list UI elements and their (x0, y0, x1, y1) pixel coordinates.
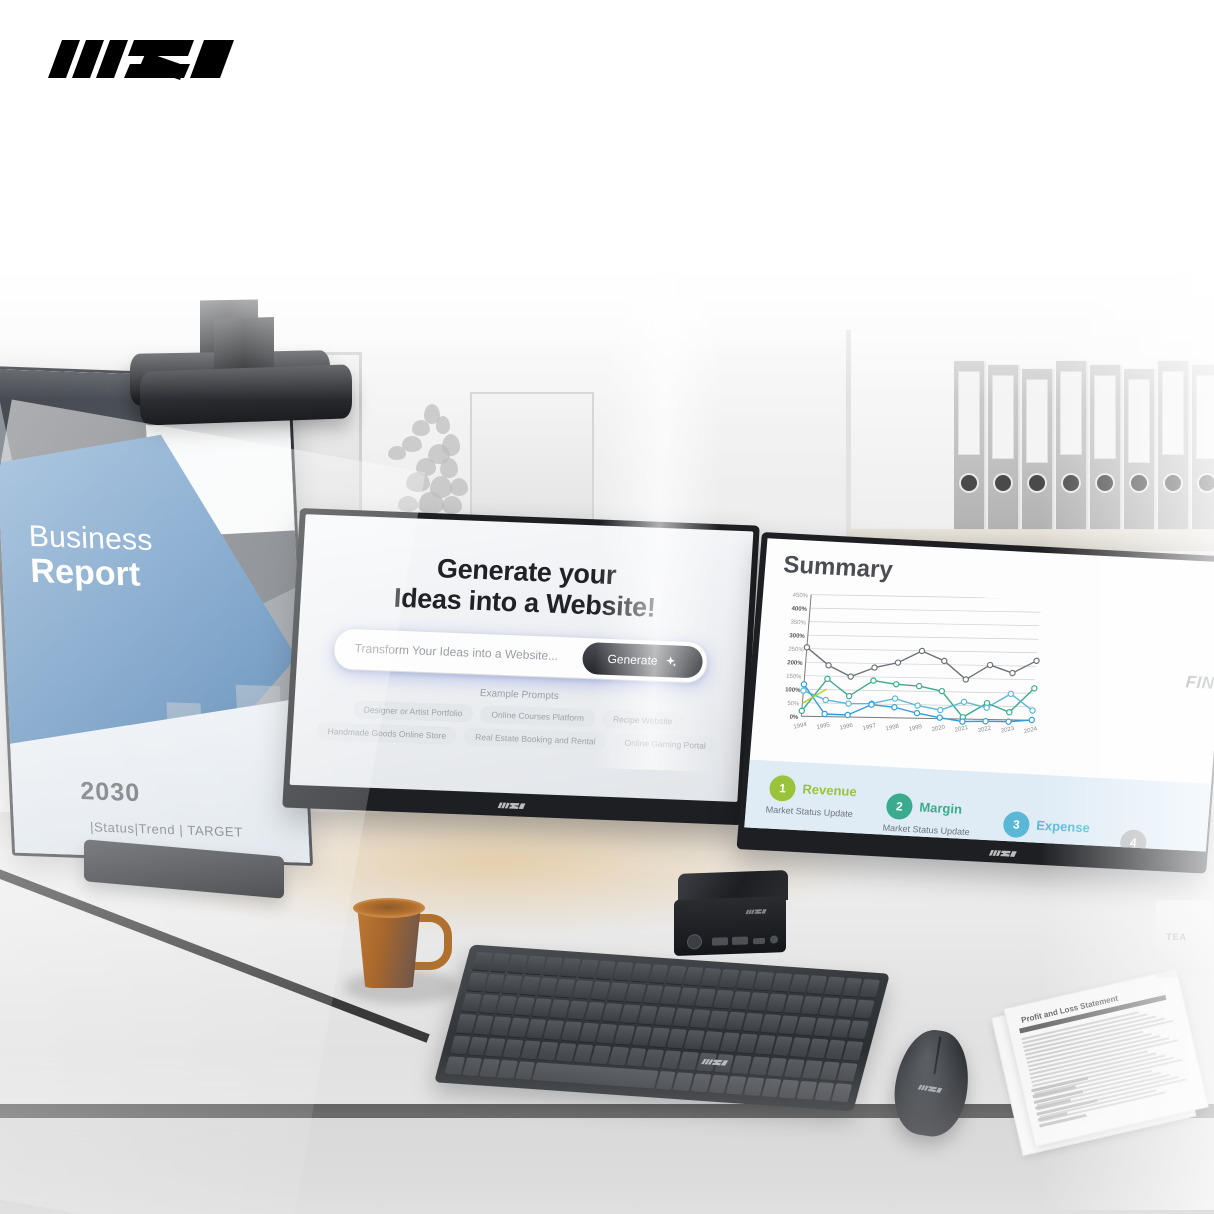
msi-mini-pc[interactable] (672, 870, 792, 960)
example-prompt-pill[interactable]: Recipe Website (601, 710, 683, 731)
keyboard-key[interactable] (832, 1083, 853, 1103)
keyboard-key[interactable] (848, 1021, 869, 1041)
audio-jack[interactable] (770, 935, 778, 943)
sd-card-slot[interactable] (753, 938, 765, 944)
chart-point (823, 697, 829, 702)
msi-logo-icon (698, 1056, 733, 1069)
legend-number-badge: 3 (1002, 811, 1030, 838)
x-axis-tick-label: 2021 (954, 724, 970, 734)
right-monitor-base (140, 364, 352, 425)
power-button[interactable] (687, 934, 702, 950)
chart-point (937, 707, 943, 712)
keyboard-key[interactable] (608, 1046, 629, 1066)
legend-label: Margin (919, 800, 963, 817)
x-axis-tick-label: 2020 (931, 724, 947, 734)
keyboard-key[interactable] (625, 984, 646, 1004)
binder-finger-hole (1199, 475, 1214, 491)
y-axis-tick-label: 50% (787, 701, 800, 708)
keyboard-key[interactable] (572, 980, 593, 1000)
plant-leaf (406, 472, 430, 492)
chart-point (846, 693, 852, 698)
chart-point (846, 701, 852, 706)
chart-point (961, 699, 967, 704)
dashboard-title: Summary (782, 551, 894, 585)
keyboard-key[interactable] (859, 979, 880, 999)
generate-button-label: Generate (607, 652, 658, 668)
x-axis-tick-label: 2022 (977, 725, 993, 735)
mouse-button-split (933, 1037, 940, 1075)
y-axis-tick-label: 350% (790, 620, 806, 627)
x-axis-tick-label: 1995 (816, 721, 832, 731)
keyboard-key[interactable] (567, 1001, 588, 1021)
example-prompt-pill[interactable]: Real Estate Booking and Rental (464, 727, 607, 750)
poster-artwork: company Business Report 2030 |Status|Tre… (0, 369, 310, 863)
binder (1090, 365, 1120, 529)
chart-point (848, 674, 854, 679)
chart-point (1008, 691, 1014, 696)
chart-point (1029, 717, 1035, 722)
plant-leaf (412, 420, 430, 436)
example-prompts-list: Designer or Artist PortfolioOnline Cours… (310, 699, 724, 756)
chart-point (801, 688, 807, 693)
binder-finger-hole (1063, 475, 1079, 491)
example-prompt-pill[interactable]: Online Courses Platform (480, 705, 596, 727)
chart-point (872, 665, 878, 670)
y-axis-tick-label: 200% (787, 660, 803, 667)
center-monitor-screen[interactable]: Generate your Ideas into a Website! Tran… (290, 514, 754, 802)
keyboard-keys[interactable] (444, 952, 880, 1103)
gridline (808, 627, 1038, 647)
svg-text:1996: 1996 (839, 723, 854, 732)
y-axis-tick-label: 100% (785, 687, 801, 694)
dashboard-legend: 1RevenueMarket Status Update2MarginMarke… (744, 760, 1211, 852)
svg-text:2020: 2020 (931, 724, 946, 733)
keyboard-key[interactable] (631, 963, 652, 983)
chart-point (869, 702, 875, 707)
summary-line-chart: 0%50%100%150%200%250%300%350%400%450%199… (764, 587, 1047, 769)
chart-point (1030, 708, 1036, 713)
x-axis-tick-label: 1998 (885, 723, 901, 733)
binder-label (1060, 371, 1082, 455)
legend-subtitle: Market Status Update (765, 804, 853, 819)
y-axis-tick-label: 150% (786, 674, 802, 681)
binder-label (958, 371, 980, 455)
x-axis-tick-label: 1994 (793, 721, 809, 731)
msi-logo-icon (495, 800, 530, 812)
right-monitor-bezel: Summary FINA 0%50%100%150%200%250%300%35… (736, 532, 1214, 874)
keyboard-key[interactable] (561, 1022, 582, 1042)
x-axis-tick-label: 2023 (1000, 725, 1016, 735)
financial-side-heading: FINA (1185, 672, 1214, 694)
prompt-input-bar[interactable]: Transform Your Ideas into a Website... G… (332, 627, 708, 683)
example-prompt-pill[interactable]: Handmade Goods Online Store (316, 722, 458, 745)
sparkle-ai-icon (664, 655, 678, 668)
generate-button[interactable]: Generate (582, 642, 704, 679)
x-axis-tick-label: 2024 (1023, 726, 1039, 736)
plant-leaf (388, 446, 406, 460)
chart-point (1010, 670, 1016, 675)
legend-number-badge: 1 (768, 775, 796, 802)
keyboard-key[interactable] (578, 959, 599, 979)
chart-point (916, 683, 922, 688)
chart-point (915, 703, 921, 708)
chart-point (804, 645, 810, 650)
binder-finger-hole (995, 475, 1011, 491)
binder-finger-hole (1165, 475, 1181, 491)
binder-label (1162, 371, 1184, 455)
binder-finger-hole (1029, 475, 1045, 491)
plant-leaf (398, 496, 418, 512)
example-prompt-pill[interactable]: Designer or Artist Portfolio (352, 700, 474, 723)
x-axis-tick-label: 1997 (862, 722, 878, 732)
plant-leaf (440, 458, 458, 478)
plant-leaf (418, 492, 444, 514)
legend-label: Expense (1036, 818, 1091, 836)
chart-point (987, 662, 993, 667)
chart-point (826, 663, 832, 668)
chart-point (984, 705, 990, 710)
chart-point (871, 678, 877, 683)
left-monitor[interactable]: company Business Report 2030 |Status|Tre… (0, 366, 313, 866)
chart-point (895, 660, 901, 665)
binder-finger-hole (1097, 475, 1113, 491)
keyboard-key[interactable] (619, 1005, 640, 1025)
chart-point (893, 682, 899, 687)
prompt-input-placeholder: Transform Your Ideas into a Website... (354, 641, 558, 663)
chart-point (1006, 719, 1012, 724)
msi-logo-icon (987, 847, 1022, 860)
binder (1158, 361, 1188, 529)
svg-text:2023: 2023 (1000, 726, 1015, 735)
msi-logo-icon (744, 907, 770, 917)
msi-logo-icon (34, 28, 264, 90)
legend-item[interactable]: 1RevenueMarket Status Update (768, 775, 796, 802)
binder-finger-hole (1131, 475, 1147, 491)
legend-label: Revenue (802, 781, 857, 799)
binder-finger-hole (961, 475, 977, 491)
y-axis-tick-label: 400% (791, 606, 807, 613)
right-monitor[interactable]: Summary FINA 0%50%100%150%200%250%300%35… (736, 532, 1214, 874)
tea-canister-label: TEA (1166, 932, 1187, 942)
keyboard-key[interactable] (854, 1000, 875, 1020)
chart-point (963, 677, 969, 682)
svg-text:1997: 1997 (862, 723, 877, 732)
binder-label (1026, 379, 1048, 463)
svg-text:2021: 2021 (954, 725, 969, 734)
chart-point (845, 712, 851, 717)
svg-text:1995: 1995 (816, 722, 831, 731)
chart-point (892, 696, 898, 701)
tea-canister: TEA (1156, 900, 1212, 978)
mini-pc-front-panel (674, 896, 786, 956)
x-axis-tick-label: 1999 (908, 723, 924, 733)
msi-keyboard[interactable] (434, 944, 890, 1111)
gridline (811, 587, 1041, 607)
legend-subtitle: Market Status Update (882, 823, 970, 838)
chart-point (983, 719, 989, 724)
keyboard-key[interactable] (837, 1062, 858, 1082)
plant-leaf (450, 478, 468, 496)
svg-text:1999: 1999 (908, 724, 923, 733)
svg-text:1998: 1998 (885, 723, 900, 732)
binder-label (1196, 375, 1214, 459)
marketing-image-stage: company Business Report 2030 |Status|Tre… (0, 0, 1214, 1214)
mug-rim (353, 898, 425, 918)
legend-item[interactable]: 3ExpenseMarket Status Update (1002, 811, 1030, 838)
chart-point (1032, 686, 1038, 691)
binder (1056, 361, 1086, 529)
svg-text:1994: 1994 (793, 722, 808, 731)
svg-text:2022: 2022 (977, 725, 992, 734)
poster-year: 2030 (80, 777, 141, 808)
chart-point (960, 719, 966, 724)
example-prompt-pill[interactable]: Online Gaming Portal (613, 733, 717, 755)
left-monitor-panel: company Business Report 2030 |Status|Tre… (0, 366, 313, 866)
y-axis-tick-label: 250% (788, 647, 804, 654)
binder (1192, 365, 1214, 529)
chart-point (822, 711, 828, 716)
chart-point (801, 682, 807, 687)
mug-handle (414, 914, 452, 970)
legend-item[interactable]: 2MarginMarket Status Update (885, 793, 913, 820)
y-axis-tick-label: 300% (789, 633, 805, 640)
keyboard-key[interactable] (525, 956, 546, 976)
binder (1022, 369, 1052, 529)
chart-point (939, 688, 945, 693)
chart-point (941, 658, 947, 663)
msi-logo-icon (915, 1082, 946, 1097)
plant-leaf (436, 416, 450, 434)
usb-port[interactable] (712, 937, 728, 946)
keyboard-key[interactable] (497, 1060, 518, 1080)
keyboard-key[interactable] (503, 1039, 524, 1059)
gridline (809, 614, 1039, 634)
keyboard-key[interactable] (508, 1018, 529, 1038)
poster-title-line2: Report (29, 552, 141, 595)
binder-label (1128, 379, 1150, 463)
keyboard-key[interactable] (555, 1043, 576, 1063)
keyboard-key[interactable] (514, 997, 535, 1017)
generator-headline: Generate your Ideas into a Website! (300, 548, 751, 628)
center-monitor[interactable]: Generate your Ideas into a Website! Tran… (282, 508, 760, 825)
binder (1124, 369, 1154, 529)
binder (988, 365, 1018, 529)
chart-point (892, 705, 898, 710)
y-axis-tick-label: 0% (789, 715, 799, 721)
shelf-with-binders (846, 330, 1214, 565)
svg-text:2024: 2024 (1023, 726, 1038, 735)
gridline (810, 600, 1040, 620)
keyboard-body (434, 944, 890, 1111)
x-axis-tick-label: 1996 (839, 722, 855, 732)
chart-point (799, 708, 805, 713)
chart-point (825, 676, 831, 681)
chart-point (1007, 710, 1013, 715)
center-monitor-bezel: Generate your Ideas into a Website! Tran… (282, 508, 760, 825)
chart-point (937, 715, 943, 720)
chart-point (1034, 658, 1040, 663)
legend-number-badge: 4 (1119, 829, 1147, 851)
binder-label (992, 375, 1014, 459)
binder-label (1094, 375, 1116, 459)
right-monitor-screen[interactable]: Summary FINA 0%50%100%150%200%250%300%35… (744, 538, 1214, 851)
y-axis-tick-label: 450% (792, 593, 808, 600)
keyboard-key[interactable] (843, 1041, 864, 1061)
keyboard-key[interactable] (614, 1025, 635, 1045)
chart-point (914, 710, 920, 715)
binder (954, 361, 984, 529)
chart-point (919, 648, 925, 653)
ceramic-mug (354, 892, 446, 988)
plant-leaf (442, 496, 462, 514)
keyboard-key[interactable] (519, 976, 540, 996)
legend-number-badge: 2 (885, 793, 913, 820)
usb-port[interactable] (732, 936, 748, 945)
legend-item[interactable]: 4Market (1119, 829, 1147, 851)
